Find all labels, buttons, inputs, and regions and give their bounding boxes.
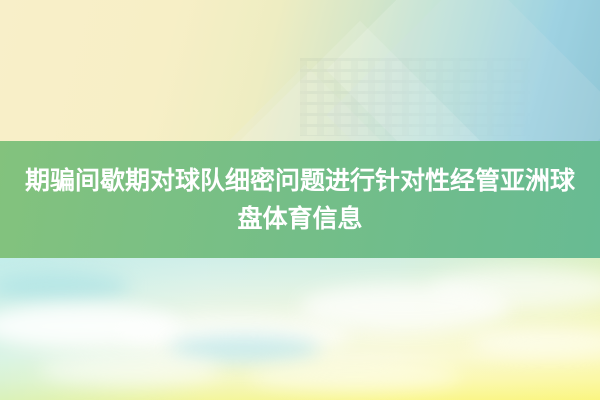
promo-banner: 期骗间歇期对球队细密问题进行针对性经管亚洲球 盘体育信息 [0,0,600,400]
banner-title-line-1: 期骗间歇期对球队细密问题进行针对性经管亚洲球 [25,162,575,200]
faint-watermark-texture [300,58,530,136]
banner-title-line-2: 盘体育信息 [237,200,362,238]
bottom-sky-panel [0,258,600,400]
title-band: 期骗间歇期对球队细密问题进行针对性经管亚洲球 盘体育信息 [0,141,600,258]
cloud-shape [40,354,220,386]
top-decorative-panel [0,0,600,141]
cloud-shape [300,284,510,330]
cloud-shape [250,362,460,392]
